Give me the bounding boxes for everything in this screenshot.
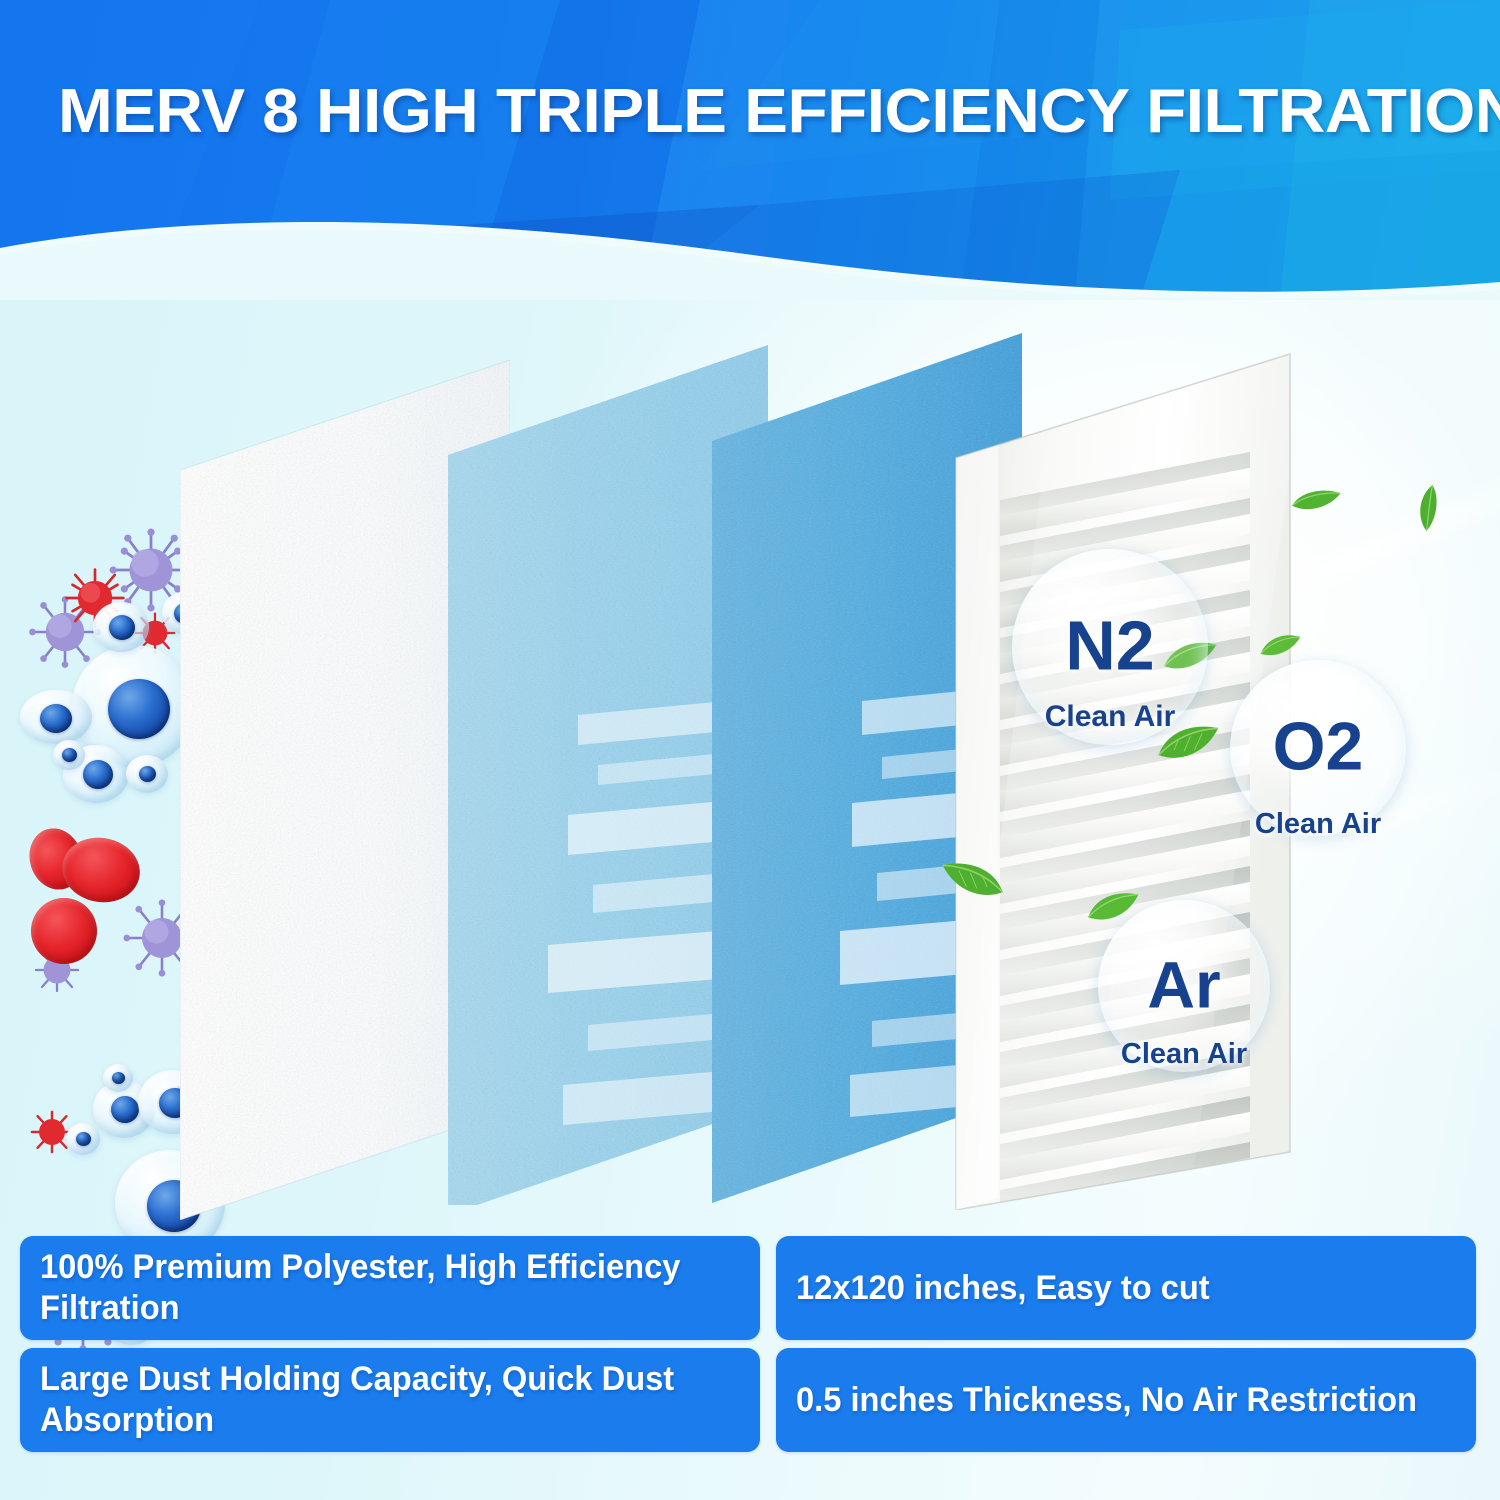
leaf-icon [1412, 483, 1442, 533]
leaf-icon [1290, 487, 1342, 515]
header-banner: MERV 8 HIGH TRIPLE EFFICIENCY FILTRATION [0, 0, 1500, 300]
gas-bubble-n2-caption: Clean Air [1012, 700, 1208, 734]
dust-particle [53, 740, 85, 770]
leaf-icon [1258, 630, 1302, 660]
feature-box-1-text: 100% Premium Polyester, High Efficiency … [40, 1247, 712, 1329]
feature-list: 100% Premium Polyester, High Efficiency … [20, 1236, 1480, 1452]
feature-box-3[interactable]: Large Dust Holding Capacity, Quick Dust … [20, 1348, 760, 1452]
dust-particle [93, 602, 149, 652]
gas-bubble-o2-caption: Clean Air [1228, 808, 1408, 841]
page-title: MERV 8 HIGH TRIPLE EFFICIENCY FILTRATION [58, 76, 1500, 147]
header-wave-divider [0, 182, 1500, 300]
gas-bubble-n2-symbol: N2 [1012, 605, 1208, 685]
red-blood-cell [31, 898, 97, 964]
leaf-icon [940, 860, 1006, 900]
gas-bubble-ar-symbol: Ar [1098, 946, 1270, 1022]
dust-particle [103, 1064, 133, 1092]
feature-box-1[interactable]: 100% Premium Polyester, High Efficiency … [20, 1236, 760, 1340]
feature-box-4[interactable]: 0.5 inches Thickness, No Air Restriction [776, 1348, 1476, 1452]
dust-particle [20, 690, 92, 744]
gas-bubble-o2-symbol: O2 [1230, 707, 1406, 785]
gas-bubble-ar-caption: Clean Air [1098, 1038, 1270, 1071]
feature-box-3-text: Large Dust Holding Capacity, Quick Dust … [40, 1359, 712, 1441]
feature-box-2-text: 12x120 inches, Easy to cut [796, 1268, 1210, 1309]
dust-particle [66, 1123, 100, 1155]
product-infographic: N2 Clean Air O2 Clean Air Ar Clean Air [0, 0, 1500, 1500]
feature-box-4-text: 0.5 inches Thickness, No Air Restriction [796, 1380, 1417, 1421]
feature-box-2[interactable]: 12x120 inches, Easy to cut [776, 1236, 1476, 1340]
dust-particle [126, 755, 168, 793]
